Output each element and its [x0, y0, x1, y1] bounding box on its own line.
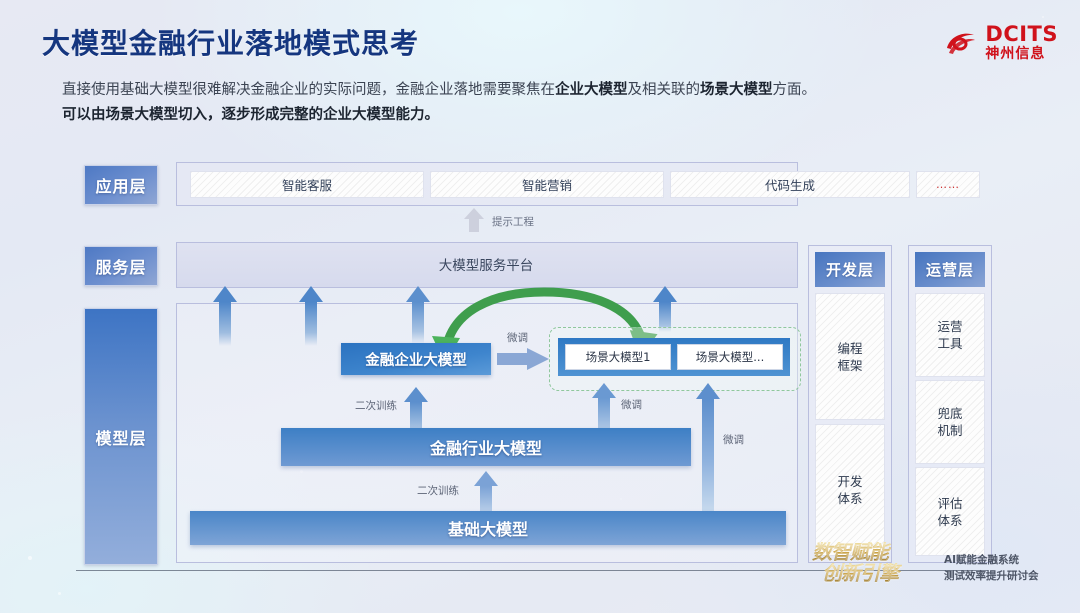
operations-layer-title: 运营层 [915, 252, 985, 287]
app-box-more: …… [916, 171, 980, 198]
app-box-marketing: 智能营销 [430, 171, 664, 198]
development-layer-panel: 开发层 编程框架 开发体系 [808, 245, 892, 563]
decor-spark [1042, 16, 1044, 18]
scenario-models-bar: 场景大模型1 场景大模型... [558, 338, 790, 376]
subtitle-line-2: 可以由场景大模型切入，逐步形成完整的企业大模型能力。 [62, 107, 439, 123]
layer-chip-application: 应用层 [84, 165, 158, 205]
logo-chinese: 神州信息 [985, 47, 1058, 61]
label-finetune-industry: 微调 [621, 397, 642, 412]
ops-cell-fallback-mechanism: 兜底机制 [915, 380, 985, 464]
scenario-model-1: 场景大模型1 [565, 344, 671, 370]
base-model-box: 基础大模型 [190, 511, 786, 545]
watermark-line-2: 创新引擎 [822, 563, 940, 584]
slide-canvas: 大模型金融行业落地模式思考 直接使用基础大模型很难解决金融企业的实际问题，金融企… [0, 0, 1080, 613]
label-retrain-enterprise: 二次训练 [355, 398, 397, 413]
subtitle-emph-enterprise: 企业大模型 [555, 82, 628, 98]
conference-line-1: AI赋能金融系统 [944, 552, 1039, 568]
label-finetune-base: 微调 [723, 432, 744, 447]
conference-name: AI赋能金融系统 测试效率提升研讨会 [944, 552, 1039, 584]
decor-spark [58, 592, 61, 595]
prompt-engineering-label: 提示工程 [492, 214, 534, 229]
up-arrow-retrain-industry [474, 471, 498, 511]
up-arrow-to-service-2 [299, 286, 323, 346]
subtitle-seg-1: 直接使用基础大模型很难解决金融企业的实际问题，金融企业落地需要聚焦在 [62, 82, 555, 98]
subtitle-seg-2: 及相关联的 [628, 82, 701, 98]
page-title: 大模型金融行业落地模式思考 [42, 22, 419, 62]
up-arrow-retrain-enterprise [404, 387, 428, 429]
subtitle-seg-3: 方面。 [773, 82, 817, 98]
development-layer-title: 开发层 [815, 252, 885, 287]
conference-watermark: 数智赋能 创新引擎 [812, 542, 940, 584]
app-box-customer-service: 智能客服 [190, 171, 424, 198]
ops-cell-fallback-mechanism-label: 兜底机制 [937, 405, 962, 439]
dev-cell-programming-framework: 编程框架 [815, 293, 885, 420]
subtitle-emph-scenario: 场景大模型 [700, 82, 773, 98]
label-finetune-to-scenario: 微调 [507, 330, 528, 345]
ops-cell-evaluation-system-label: 评估体系 [937, 495, 962, 529]
up-arrow-to-service-1 [213, 286, 237, 346]
dev-cell-development-system: 开发体系 [815, 424, 885, 556]
dev-cell-programming-framework-label: 编程框架 [837, 340, 862, 374]
logo-english: DCITS [985, 24, 1058, 45]
scenario-model-2: 场景大模型... [677, 344, 783, 370]
prompt-engineering-arrow-icon [463, 208, 485, 232]
page-subtitle: 直接使用基础大模型很难解决金融企业的实际问题，金融企业落地需要聚焦在企业大模型及… [62, 78, 942, 128]
logo-text: DCITS 神州信息 [985, 24, 1058, 61]
finetune-right-arrow-icon [497, 348, 549, 370]
brand-logo: DCITS 神州信息 [944, 24, 1058, 61]
ops-cell-operation-tools-label: 运营工具 [937, 318, 962, 352]
label-retrain-industry: 二次训练 [417, 483, 459, 498]
watermark-line-1: 数智赋能 [812, 542, 940, 563]
conference-line-2: 测试效率提升研讨会 [944, 568, 1039, 584]
operations-layer-panel: 运营层 运营工具 兜底机制 评估体系 [908, 245, 992, 563]
decor-spark [28, 556, 32, 560]
up-arrow-finetune-industry [592, 383, 616, 429]
industry-model-box: 金融行业大模型 [281, 428, 691, 466]
enterprise-model-box: 金融企业大模型 [341, 343, 491, 375]
dcits-swirl-icon [944, 26, 978, 60]
dev-cell-development-system-label: 开发体系 [837, 473, 862, 507]
service-platform-label: 大模型服务平台 [176, 242, 796, 286]
app-box-code-generation: 代码生成 [670, 171, 910, 198]
up-arrow-finetune-base [696, 383, 720, 513]
layer-chip-service: 服务层 [84, 246, 158, 286]
layer-chip-model: 模型层 [84, 308, 158, 565]
ops-cell-operation-tools: 运营工具 [915, 293, 985, 377]
